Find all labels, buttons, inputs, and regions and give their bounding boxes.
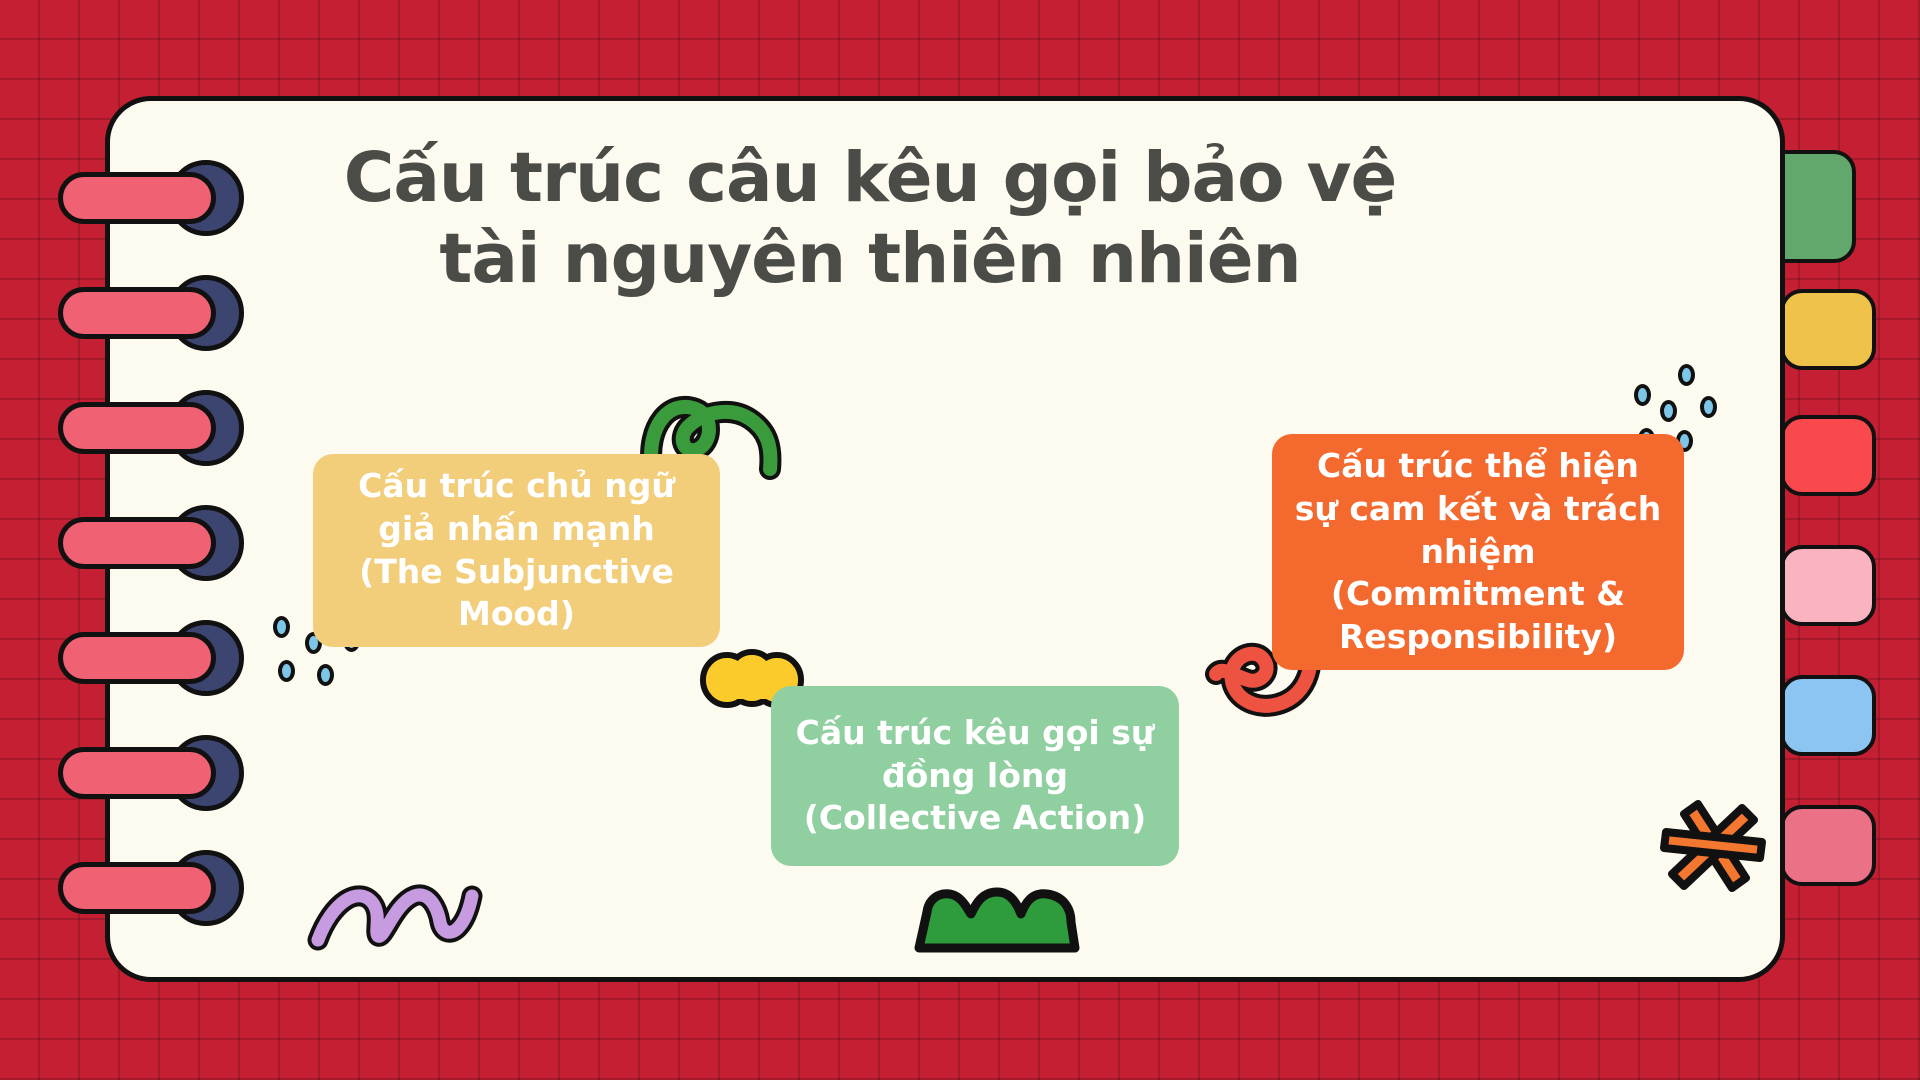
tab-rose[interactable]	[1780, 805, 1876, 886]
concept-card-subjunctive[interactable]: Cấu trúc chủ ngữ giả nhấn mạnh (The Subj…	[313, 454, 720, 647]
blue-dot	[1678, 364, 1695, 386]
blue-dot	[1660, 400, 1677, 422]
binder-ring-pill	[58, 287, 216, 339]
binder-ring-pill	[58, 172, 216, 224]
blue-dot	[278, 660, 295, 682]
tab-yellow[interactable]	[1780, 289, 1876, 370]
tab-red[interactable]	[1780, 415, 1876, 496]
blue-dot	[317, 664, 334, 686]
slide-title-line-2: tài nguyên thiên nhiên	[330, 219, 1410, 300]
orange-asterisk-icon	[1658, 790, 1768, 900]
slide-title: Cấu trúc câu kêu gọi bảo vệ tài nguyên t…	[330, 138, 1410, 301]
binder-ring-pill	[58, 632, 216, 684]
blue-dot	[1700, 396, 1717, 418]
tab-pink[interactable]	[1780, 545, 1876, 626]
slide-title-line-1: Cấu trúc câu kêu gọi bảo vệ	[330, 138, 1410, 219]
concept-card-collective[interactable]: Cấu trúc kêu gọi sự đồng lòng (Collectiv…	[771, 686, 1179, 866]
binder-ring-pill	[58, 862, 216, 914]
purple-wave-squiggle	[310, 878, 485, 950]
concept-card-commitment[interactable]: Cấu trúc thể hiện sự cam kết và trách nh…	[1272, 434, 1684, 670]
tab-blue[interactable]	[1780, 675, 1876, 756]
green-bush-shape	[905, 882, 1090, 954]
blue-dot	[1634, 384, 1651, 406]
binder-ring-pill	[58, 402, 216, 454]
binder-ring-pill	[58, 517, 216, 569]
blue-dot	[273, 616, 290, 638]
binder-ring-pill	[58, 747, 216, 799]
